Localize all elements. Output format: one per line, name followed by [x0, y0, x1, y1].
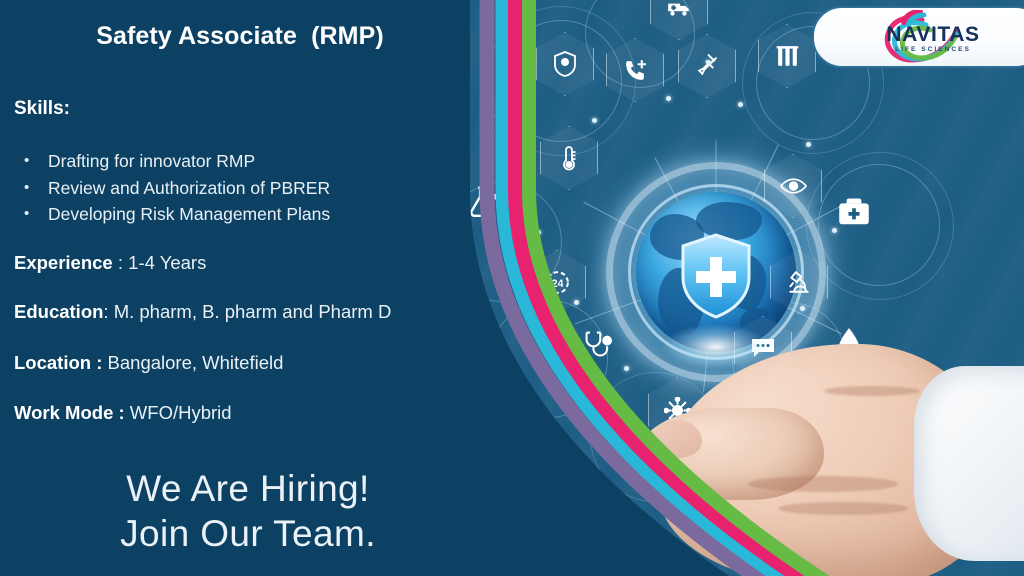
- network-node: [666, 96, 671, 101]
- hiring-line-1: We Are Hiring!: [126, 468, 369, 509]
- network-node: [592, 118, 597, 123]
- healthcare-graphic-panel: 24: [470, 0, 1024, 576]
- list-item: • Review and Authorization of PBRER: [14, 175, 330, 202]
- bullet-icon: •: [24, 148, 29, 175]
- shield-plus-icon: [679, 233, 753, 319]
- list-item: • Developing Risk Management Plans: [14, 201, 330, 228]
- pill-icon: [512, 402, 558, 442]
- detail-value: : M. pharm, B. pharm and Pharm D: [103, 301, 391, 322]
- skills-heading: Skills:: [14, 98, 70, 120]
- detail-value: WFO/Hybrid: [125, 402, 232, 423]
- navitas-logo: NAVITAS LIFE SCIENCES: [812, 6, 1024, 68]
- skill-text: Drafting for innovator RMP: [48, 151, 255, 171]
- page-title: Safety Associate (RMP): [0, 22, 480, 51]
- detail-value: : 1-4 Years: [113, 252, 207, 273]
- shirt-cuff: [914, 366, 1024, 561]
- detail-value: Bangalore, Whitefield: [102, 352, 283, 373]
- network-node: [536, 230, 541, 235]
- skill-text: Developing Risk Management Plans: [48, 204, 330, 224]
- logo-text-group: NAVITAS LIFE SCIENCES: [858, 13, 1008, 61]
- logo-wordmark: NAVITAS: [858, 24, 1008, 45]
- detail-row-work-mode: Work Mode : WFO/Hybrid: [14, 402, 232, 424]
- detail-label: Experience: [14, 252, 113, 273]
- hand-photo: [628, 326, 1024, 576]
- list-item: • Drafting for innovator RMP: [14, 148, 330, 175]
- stethoscope-icon: [574, 322, 622, 366]
- network-node: [832, 228, 837, 233]
- hiring-poster: 24: [0, 0, 1024, 576]
- hiring-callout: We Are Hiring! Join Our Team.: [0, 466, 496, 556]
- detail-row-experience: Experience : 1-4 Years: [14, 252, 206, 274]
- hiring-line-2: Join Our Team.: [0, 511, 496, 556]
- bullet-icon: •: [24, 175, 29, 202]
- svg-text:24: 24: [551, 278, 563, 290]
- network-node: [574, 300, 579, 305]
- network-node: [806, 142, 811, 147]
- detail-label: Work Mode :: [14, 402, 125, 423]
- network-node: [800, 306, 805, 311]
- skills-list: • Drafting for innovator RMP • Review an…: [14, 148, 330, 228]
- detail-row-location: Location : Bangalore, Whitefield: [14, 352, 283, 374]
- detail-row-education: Education: M. pharm, B. pharm and Pharm …: [14, 301, 391, 323]
- logo-tagline: LIFE SCIENCES: [858, 46, 1008, 54]
- skill-text: Review and Authorization of PBRER: [48, 178, 330, 198]
- job-details-panel: Safety Associate (RMP) Skills: • Draftin…: [0, 0, 500, 576]
- detail-label: Location :: [14, 352, 102, 373]
- thumbnail: [650, 420, 702, 458]
- bullet-icon: •: [24, 201, 29, 228]
- network-node: [706, 60, 711, 65]
- first-aid-kit-icon: [830, 188, 878, 236]
- detail-label: Education: [14, 301, 103, 322]
- network-node: [738, 102, 743, 107]
